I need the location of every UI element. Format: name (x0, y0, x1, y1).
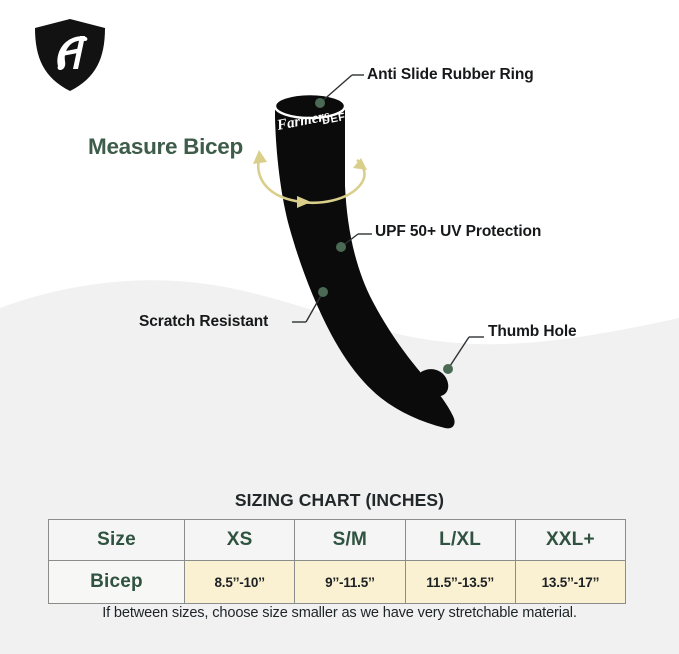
header-cell-xs: XS (185, 520, 295, 561)
table-header-row: Size XS S/M L/XL XXL+ (49, 520, 626, 561)
sizing-chart-title: SIZING CHART (INCHES) (0, 490, 679, 511)
shield-logo-icon (28, 14, 112, 96)
dot-upf-protection (336, 242, 346, 252)
label-upf-protection: UPF 50+ UV Protection (375, 223, 541, 241)
sizing-footnote: If between sizes, choose size smaller as… (0, 605, 679, 621)
dot-scratch-resistant (318, 287, 328, 297)
header-cell-xxl: XXL+ (515, 520, 625, 561)
value-cell-bicep-xxl: 13.5’’-17’’ (515, 561, 625, 604)
row-label-bicep: Bicep (49, 561, 185, 604)
sizing-chart-table: Size XS S/M L/XL XXL+ Bicep 8.5’’-10’’ 9… (48, 519, 626, 604)
value-cell-bicep-lxl: 11.5’’-13.5’’ (405, 561, 515, 604)
header-cell-sm: S/M (295, 520, 405, 561)
label-anti-slide-rubber-ring: Anti Slide Rubber Ring (367, 66, 534, 84)
label-measure-bicep: Measure Bicep (88, 134, 243, 160)
infographic-canvas: Farmers DEFENSE (0, 0, 679, 654)
table-row: Bicep 8.5’’-10’’ 9’’-11.5’’ 11.5’’-13.5’… (49, 561, 626, 604)
dot-anti-slide-rubber-ring (315, 98, 325, 108)
header-cell-lxl: L/XL (405, 520, 515, 561)
label-thumb-hole: Thumb Hole (488, 323, 577, 341)
header-cell-size: Size (49, 520, 185, 561)
value-cell-bicep-xs: 8.5’’-10’’ (185, 561, 295, 604)
value-cell-bicep-sm: 9’’-11.5’’ (295, 561, 405, 604)
dot-thumb-hole (443, 364, 453, 374)
label-scratch-resistant: Scratch Resistant (139, 313, 268, 331)
